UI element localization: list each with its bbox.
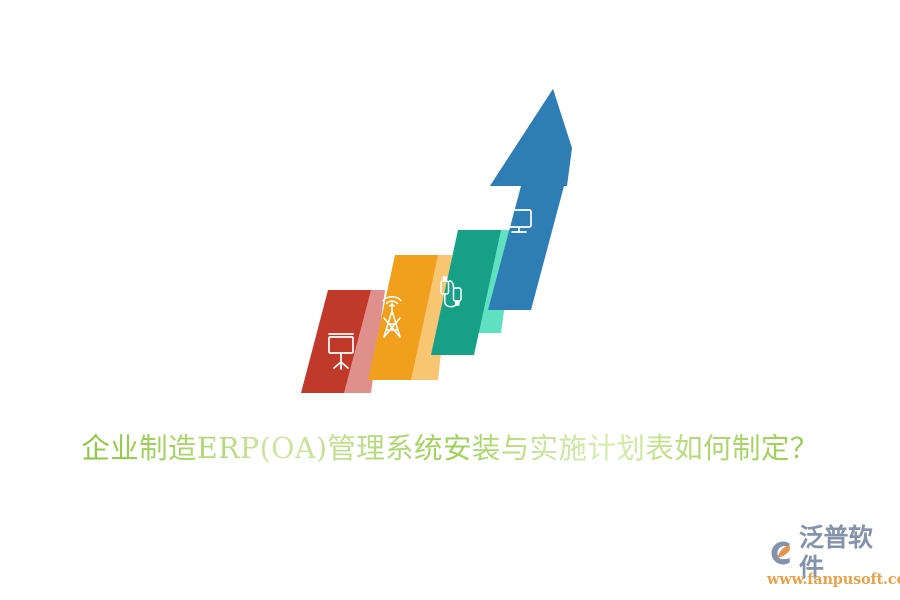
hero-arrow-illustration: [0, 0, 900, 600]
segment-blue: [488, 89, 572, 310]
brand-watermark: 泛普软件 www.fanpusoft.com: [766, 536, 892, 592]
arrow-head-fill: [490, 89, 572, 186]
brand-row: 泛普软件: [766, 536, 892, 570]
page-canvas: 企业制造ERP(OA)管理系统安装与实施计划表如何制定？ 泛普软件 www.fa…: [0, 0, 900, 600]
brand-url: www.fanpusoft.com: [767, 571, 892, 588]
fanpu-logo-mark: [766, 538, 796, 568]
